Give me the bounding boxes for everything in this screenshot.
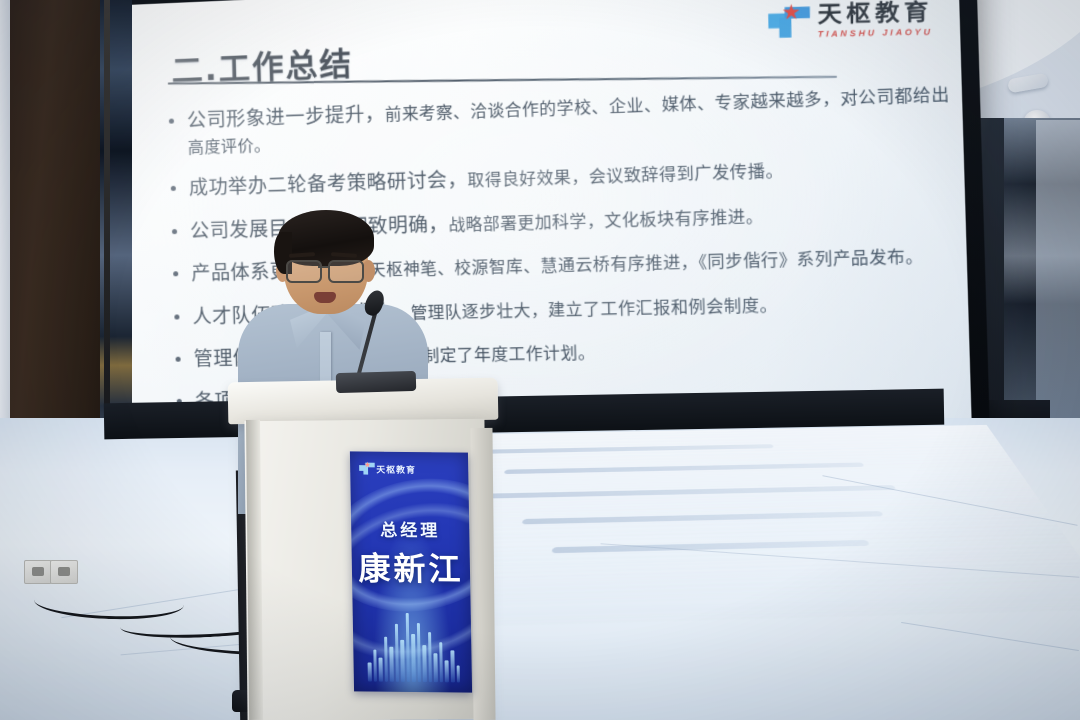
bullet-lead: 成功举办二轮备考策略研讨会， bbox=[189, 169, 468, 200]
company-logo: 天枢教育 TIANSHU JIAOYU bbox=[768, 1, 933, 40]
podium-role-title: 总经理 bbox=[351, 515, 469, 541]
bullet-dot-icon bbox=[169, 119, 174, 124]
eyeglasses-bridge bbox=[318, 266, 328, 268]
list-item: 公司形象进一步提升，前来考察、洽谈合作的学校、企业、媒体、专家越来越多，对公司都… bbox=[169, 79, 955, 162]
podium-logo-mark-icon bbox=[359, 461, 375, 475]
eyeglasses-icon bbox=[286, 260, 322, 283]
bullet-rest: 天枢神笔、校源智库、慧通云桥有序推进，《同步偕行》系列产品发布。 bbox=[369, 246, 924, 279]
podium-right-edge bbox=[470, 428, 495, 720]
bullet-rest: 取得良好效果，会议致辞得到广发传播。 bbox=[467, 161, 783, 190]
conference-room-photo: 二.工作总结 天枢教育 TIANSHU JIAOYU 公司形象进一步提升，前来考… bbox=[0, 0, 1080, 720]
bullet-dot-icon bbox=[173, 271, 178, 276]
bullet-rest: 战略部署更加科学，文化板块有序推进。 bbox=[448, 206, 764, 234]
bullet-dot-icon bbox=[176, 357, 181, 362]
power-outlet-icon bbox=[24, 560, 52, 584]
bullet-dot-icon bbox=[174, 314, 179, 319]
screen-left-bezel bbox=[104, 0, 110, 470]
bullet-dot-icon bbox=[172, 229, 177, 234]
podium-logo-name: 天枢教育 bbox=[376, 462, 416, 475]
bullet-rest: 管理队逐步壮大，建立了工作汇报和例会制度。 bbox=[410, 295, 777, 323]
podium-speaker-name: 康新江 bbox=[351, 543, 470, 590]
podium-skyline-graphic bbox=[367, 610, 460, 683]
power-outlet-icon bbox=[50, 560, 78, 584]
logo-name-en: TIANSHU JIAOYU bbox=[818, 28, 933, 39]
right-wall-lit-surface bbox=[1036, 120, 1080, 420]
bullet-dot-icon bbox=[171, 186, 176, 191]
eyeglasses-icon bbox=[328, 260, 364, 283]
bullet-lead: 公司形象进一步提升， bbox=[187, 103, 385, 132]
list-item: 成功举办二轮备考策略研讨会，取得良好效果，会议致辞得到广发传播。 bbox=[170, 150, 955, 205]
logo-mark-icon bbox=[768, 3, 810, 40]
speaker-mouth bbox=[314, 292, 336, 303]
podium-display-screen: 天枢教育 总经理 康新江 bbox=[350, 451, 472, 692]
logo-name-cn: 天枢教育 bbox=[818, 1, 933, 27]
microphone-base bbox=[336, 371, 416, 393]
podium-logo: 天枢教育 bbox=[359, 461, 416, 475]
